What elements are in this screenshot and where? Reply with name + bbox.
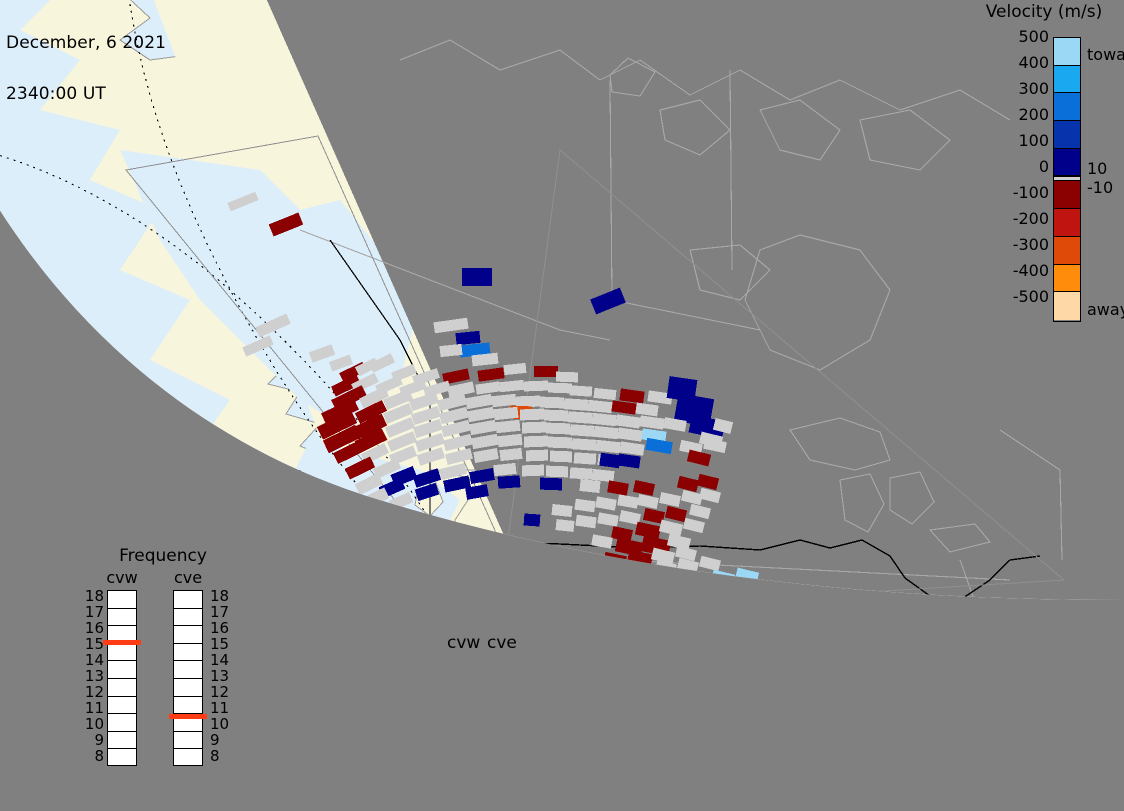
velocity-cell[interactable]	[524, 436, 548, 448]
frequency-tick-cell	[174, 661, 202, 679]
frequency-tick-cell	[108, 749, 136, 767]
velocity-cell[interactable]	[556, 372, 578, 383]
velocity-cell[interactable]	[574, 452, 597, 465]
frequency-tick-cell	[108, 679, 136, 697]
frequency-scale-label: 9	[78, 732, 104, 748]
velocity-cell[interactable]	[599, 453, 621, 469]
velocity-cell[interactable]	[570, 385, 593, 397]
velocity-away-label: away	[1087, 300, 1124, 319]
velocity-cell[interactable]	[499, 448, 522, 461]
colorbar-segment	[1054, 149, 1080, 177]
frequency-scale-label: 11	[210, 700, 236, 716]
frequency-scale-label: 11	[78, 700, 104, 716]
velocity-cell[interactable]	[462, 268, 492, 286]
frequency-scale-right: 18171615141312111098	[210, 588, 236, 764]
velocity-cell[interactable]	[550, 451, 572, 463]
frequency-scale-label: 14	[210, 652, 236, 668]
frequency-scale-label: 10	[210, 716, 236, 732]
frequency-scale-label: 16	[78, 620, 104, 636]
velocity-pos-threshold-label: 10	[1087, 159, 1107, 178]
frequency-tick-cell	[174, 679, 202, 697]
timestamp: December, 6 2021 2340:00 UT	[6, 1, 166, 137]
velocity-cell[interactable]	[548, 437, 572, 449]
colorbar-segment	[1054, 265, 1080, 293]
colorbar-tick: -200	[995, 210, 1049, 236]
velocity-toward-label: toward	[1087, 45, 1124, 64]
frequency-column-header-cve: cve	[166, 568, 210, 587]
frequency-tick-cell	[174, 732, 202, 750]
colorbar-segment	[1054, 121, 1080, 149]
frequency-scale-label: 17	[210, 604, 236, 620]
velocity-cell[interactable]	[526, 450, 548, 462]
frequency-tick-cell	[108, 609, 136, 627]
frequency-marker-cvw	[103, 640, 141, 645]
frequency-bar-cvw	[107, 590, 137, 766]
colorbar-segment	[1054, 209, 1080, 237]
colorbar-segment	[1054, 93, 1080, 121]
site-label-cvw: cvw	[447, 633, 480, 653]
frequency-scale-label: 13	[210, 668, 236, 684]
velocity-cell[interactable]	[524, 381, 548, 392]
frequency-tick-cell	[108, 644, 136, 662]
velocity-legend-title: Velocity (m/s)	[974, 2, 1114, 22]
velocity-cell[interactable]	[570, 467, 593, 480]
colorbar-tick: 300	[995, 80, 1049, 106]
timestamp-time: 2340:00 UT	[6, 86, 166, 103]
colorbar-segment	[1054, 38, 1080, 66]
frequency-bar-cve	[173, 590, 203, 766]
frequency-marker-cve	[169, 714, 207, 719]
colorbar-segment	[1054, 292, 1080, 320]
colorbar-tick: 0	[995, 158, 1049, 184]
velocity-colorbar	[1053, 37, 1081, 322]
frequency-legend: Frequency cvw cve 18171615141312111098 1…	[88, 546, 238, 786]
colorbar-tick: -500	[995, 288, 1049, 314]
velocity-cell[interactable]	[540, 478, 562, 491]
velocity-cell[interactable]	[455, 331, 480, 345]
frequency-scale-label: 8	[210, 748, 236, 764]
frequency-tick-cell	[108, 591, 136, 609]
frequency-scale-label: 18	[210, 588, 236, 604]
frequency-scale-label: 18	[78, 588, 104, 604]
colorbar-segment	[1054, 237, 1080, 265]
velocity-cell[interactable]	[534, 366, 558, 377]
frequency-tick-cell	[174, 591, 202, 609]
frequency-scale-left: 18171615141312111098	[78, 588, 104, 764]
velocity-cell[interactable]	[522, 465, 544, 477]
frequency-column-header-cvw: cvw	[100, 568, 144, 587]
velocity-cell[interactable]	[572, 438, 597, 451]
velocity-cell[interactable]	[564, 398, 589, 411]
velocity-tick-labels: 5004003002001000-100-200-300-400-500	[995, 28, 1049, 314]
frequency-scale-label: 13	[78, 668, 104, 684]
frequency-tick-cell	[108, 732, 136, 750]
velocity-cell[interactable]	[570, 424, 595, 437]
velocity-cell[interactable]	[551, 504, 572, 517]
colorbar-tick: -400	[995, 262, 1049, 288]
colorbar-tick: -300	[995, 236, 1049, 262]
frequency-scale-label: 12	[210, 684, 236, 700]
frequency-scale-label: 9	[210, 732, 236, 748]
velocity-cell[interactable]	[522, 422, 546, 434]
velocity-cell[interactable]	[493, 463, 516, 476]
velocity-cell[interactable]	[524, 513, 541, 526]
velocity-cell[interactable]	[439, 344, 462, 357]
frequency-scale-label: 17	[78, 604, 104, 620]
frequency-legend-title: Frequency	[88, 546, 238, 566]
frequency-tick-cell	[108, 714, 136, 732]
velocity-cell[interactable]	[544, 410, 568, 422]
colorbar-tick: 500	[995, 28, 1049, 54]
frequency-scale-label: 15	[78, 636, 104, 652]
frequency-scale-label: 12	[78, 684, 104, 700]
velocity-cell[interactable]	[579, 479, 600, 493]
velocity-cell[interactable]	[516, 396, 540, 408]
velocity-cell[interactable]	[520, 409, 544, 421]
frequency-tick-cell	[174, 697, 202, 715]
frequency-tick-cell	[174, 644, 202, 662]
frequency-scale-label: 10	[78, 716, 104, 732]
timestamp-date: December, 6 2021	[6, 35, 166, 52]
velocity-cell[interactable]	[546, 466, 568, 478]
frequency-tick-cell	[108, 697, 136, 715]
velocity-cell[interactable]	[548, 383, 572, 394]
colorbar-tick: 400	[995, 54, 1049, 80]
colorbar-tick: 200	[995, 106, 1049, 132]
frequency-scale-label: 14	[78, 652, 104, 668]
velocity-neg-threshold-label: -10	[1087, 178, 1113, 197]
frequency-scale-label: 8	[78, 748, 104, 764]
colorbar-segment	[1054, 181, 1080, 209]
frequency-scale-label: 15	[210, 636, 236, 652]
velocity-cell[interactable]	[555, 519, 574, 532]
velocity-cell[interactable]	[568, 411, 593, 424]
frequency-tick-cell	[108, 661, 136, 679]
frequency-tick-cell	[174, 609, 202, 627]
colorbar-tick: 100	[995, 132, 1049, 158]
frequency-tick-cell	[174, 626, 202, 644]
velocity-cell[interactable]	[546, 423, 570, 435]
velocity-cell[interactable]	[540, 397, 564, 409]
colorbar-tick: -100	[995, 184, 1049, 210]
site-label-cve: cve	[487, 633, 517, 653]
frequency-scale-label: 16	[210, 620, 236, 636]
velocity-cell[interactable]	[591, 469, 614, 482]
colorbar-segment	[1054, 66, 1080, 94]
velocity-cell[interactable]	[498, 475, 521, 489]
radar-map-page: December, 6 2021 2340:00 UT Velocity (m/…	[0, 0, 1124, 811]
frequency-tick-cell	[174, 749, 202, 767]
